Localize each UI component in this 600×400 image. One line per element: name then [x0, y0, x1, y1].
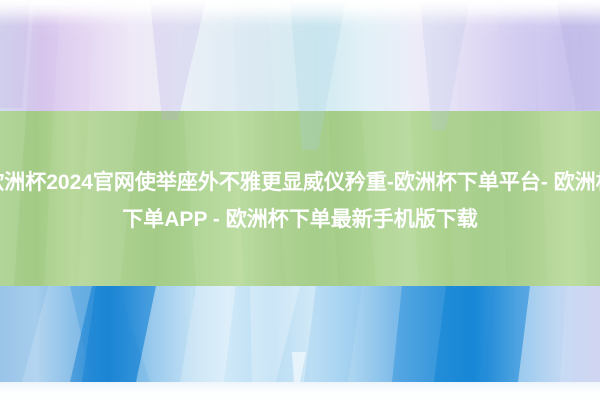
banner-headline: 欧洲杯2024官网使举座外不雅更显威仪矜重-欧洲杯下单平台- 欧洲杯下单APP … [0, 164, 600, 238]
background-band-footer [0, 382, 600, 400]
background-band-bottom [0, 286, 600, 382]
decorative-banner: 欧洲杯2024官网使举座外不雅更显威仪矜重-欧洲杯下单平台- 欧洲杯下单APP … [0, 0, 600, 400]
background-band-top [0, 0, 600, 111]
